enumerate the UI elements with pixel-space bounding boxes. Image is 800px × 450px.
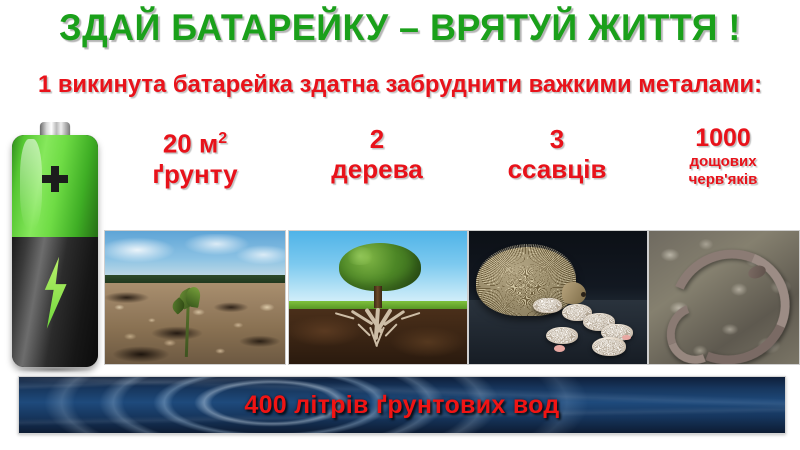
tree-crown [339, 243, 421, 291]
stat-superscript-soil: 2 [218, 130, 227, 147]
baby-hedgehog [546, 327, 578, 344]
tree-trunk [374, 286, 383, 309]
page-title: ЗДАЙ БАТАРЕЙКУ – ВРЯТУЙ ЖИТТЯ ! [12, 6, 788, 50]
stat-unit-mammals: ссавців [468, 154, 646, 184]
hedgehog-family-photo [468, 230, 648, 365]
photo-canvas-hedgehogs [469, 231, 647, 364]
poster-canvas: ЗДАЙ БАТАРЕЙКУ – ВРЯТУЙ ЖИТТЯ ! 1 викину… [0, 0, 800, 450]
battery-body [12, 135, 98, 367]
photo-canvas-soil [105, 231, 285, 364]
stat-column-trees: 2 дерева [288, 124, 466, 184]
stat-amount-mammals: 3 [468, 124, 646, 154]
stat-column-mammals: 3 ссавців [468, 124, 646, 184]
stat-caption-earthworms: 1000 дощових черв'яків [648, 124, 798, 189]
water-ripples-image: 400 літрів ґрунтових вод [18, 376, 786, 434]
stat-unit-trees: дерева [288, 154, 466, 184]
clouds-layer [105, 234, 285, 274]
baby-hedgehog [533, 298, 561, 314]
photo-canvas-worm [649, 231, 799, 364]
stat-amount-earthworms: 1000 [648, 124, 798, 153]
banner-text: 400 літрів ґрунтових вод [19, 377, 785, 433]
battery-drop-shadow [16, 366, 94, 373]
tree-with-roots-photo [288, 230, 468, 365]
battery-icon [12, 122, 98, 370]
stat-unit-soil: ґрунту [104, 159, 286, 189]
stat-amount-soil: 20 м2 [104, 124, 286, 159]
stat-caption-soil: 20 м2 ґрунту [104, 124, 286, 189]
earthworm-photo [648, 230, 800, 365]
stat-unit-earthworms-line1: дощових [648, 153, 798, 171]
page-subtitle: 1 викинута батарейка здатна забруднити в… [4, 70, 796, 100]
baby-hedgehog [592, 337, 626, 356]
baby-hedgehog-belly [622, 335, 631, 340]
stat-amount-trees: 2 [288, 124, 466, 154]
photo-canvas-tree [289, 231, 467, 364]
battery-plus-icon [42, 166, 68, 192]
stat-column-earthworms: 1000 дощових черв'яків [648, 124, 798, 189]
stat-unit-earthworms-line2: черв'яків [648, 171, 798, 189]
stat-caption-trees: 2 дерева [288, 124, 466, 184]
barren-soil-seedling-photo [104, 230, 286, 365]
stat-column-soil: 20 м2 ґрунту [104, 124, 286, 189]
stat-caption-mammals: 3 ссавців [468, 124, 646, 184]
